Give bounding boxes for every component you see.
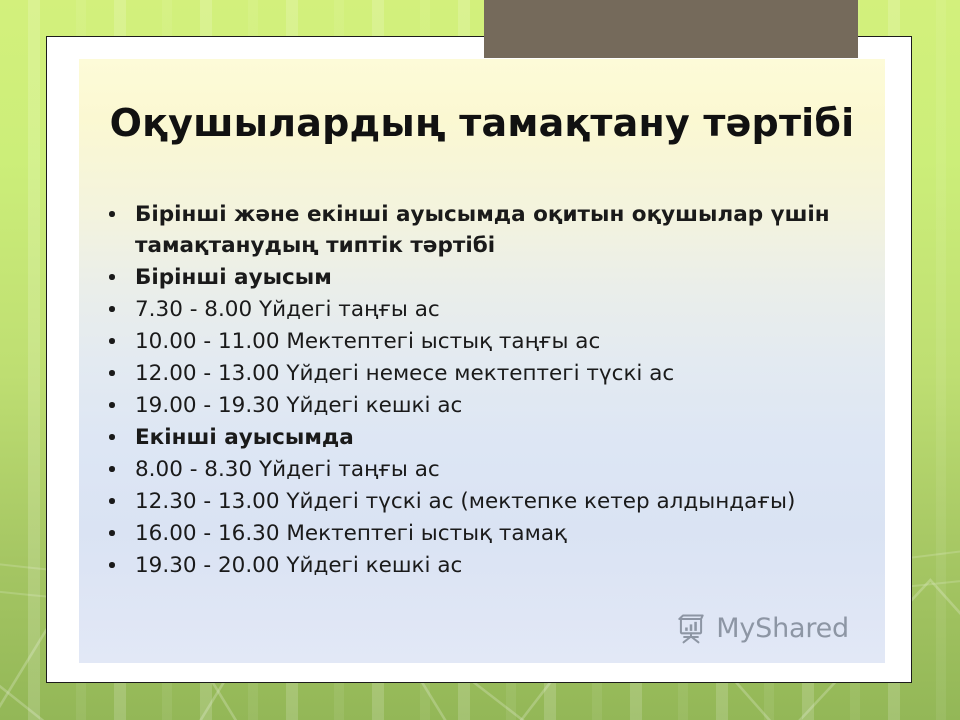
list-item-label: Бірінші ауысым (135, 262, 873, 293)
bullet-dot-icon (109, 211, 115, 217)
list-item-label: Бірінші және екінші ауысымда оқитын оқуш… (135, 199, 873, 261)
myshared-label: MyShared (716, 615, 849, 642)
list-item: 19.00 - 19.30 Үйдегі кешкі ас (93, 390, 873, 421)
list-item-label: 12.00 - 13.00 Үйдегі немесе мектептегі т… (135, 358, 873, 389)
page-title: Оқушылардың тамақтану тәртібі (79, 103, 885, 145)
list-item-label: 12.30 - 13.00 Үйдегі түскі ас (мектепке … (135, 486, 873, 517)
list-item: 19.30 - 20.00 Үйдегі кешкі ас (93, 550, 873, 581)
list-item: 16.00 - 16.30 Мектептегі ыстық тамақ (93, 518, 873, 549)
bullet-dot-icon (109, 562, 115, 568)
myshared-watermark: MyShared (674, 611, 849, 645)
list-item: Бірінші және екінші ауысымда оқитын оқуш… (93, 199, 873, 261)
slide-card-frame: Оқушылардың тамақтану тәртібі Бірінші жә… (46, 36, 912, 683)
list-item-label: 7.30 - 8.00 Үйдегі таңғы ас (135, 294, 873, 325)
list-item-label: 19.00 - 19.30 Үйдегі кешкі ас (135, 390, 873, 421)
list-item: Бірінші ауысым (93, 262, 873, 293)
list-item-label: 10.00 - 11.00 Мектептегі ыстық таңғы ас (135, 326, 873, 357)
bullet-dot-icon (109, 274, 115, 280)
list-item-label: 19.30 - 20.00 Үйдегі кешкі ас (135, 550, 873, 581)
bullet-dot-icon (109, 434, 115, 440)
bullet-dot-icon (109, 530, 115, 536)
bullet-dot-icon (109, 370, 115, 376)
bullet-dot-icon (109, 402, 115, 408)
bullet-dot-icon (109, 338, 115, 344)
bullet-dot-icon (109, 466, 115, 472)
presentation-chart-icon (674, 611, 708, 645)
list-item-label: 16.00 - 16.30 Мектептегі ыстық тамақ (135, 518, 873, 549)
bullet-dot-icon (109, 306, 115, 312)
slide-content-panel: Оқушылардың тамақтану тәртібі Бірінші жә… (79, 59, 885, 663)
list-item-label: 8.00 - 8.30 Үйдегі таңғы ас (135, 454, 873, 485)
list-item: 10.00 - 11.00 Мектептегі ыстық таңғы ас (93, 326, 873, 357)
bullet-dot-icon (109, 498, 115, 504)
list-item: Екінші ауысымда (93, 422, 873, 453)
presentation-slide: Оқушылардың тамақтану тәртібі Бірінші жә… (0, 0, 960, 720)
list-item-label: Екінші ауысымда (135, 422, 873, 453)
bullet-list: Бірінші және екінші ауысымда оқитын оқуш… (93, 199, 873, 582)
list-item: 7.30 - 8.00 Үйдегі таңғы ас (93, 294, 873, 325)
list-item: 12.30 - 13.00 Үйдегі түскі ас (мектепке … (93, 486, 873, 517)
list-item: 12.00 - 13.00 Үйдегі немесе мектептегі т… (93, 358, 873, 389)
top-banner-rectangle (484, 0, 858, 58)
list-item: 8.00 - 8.30 Үйдегі таңғы ас (93, 454, 873, 485)
